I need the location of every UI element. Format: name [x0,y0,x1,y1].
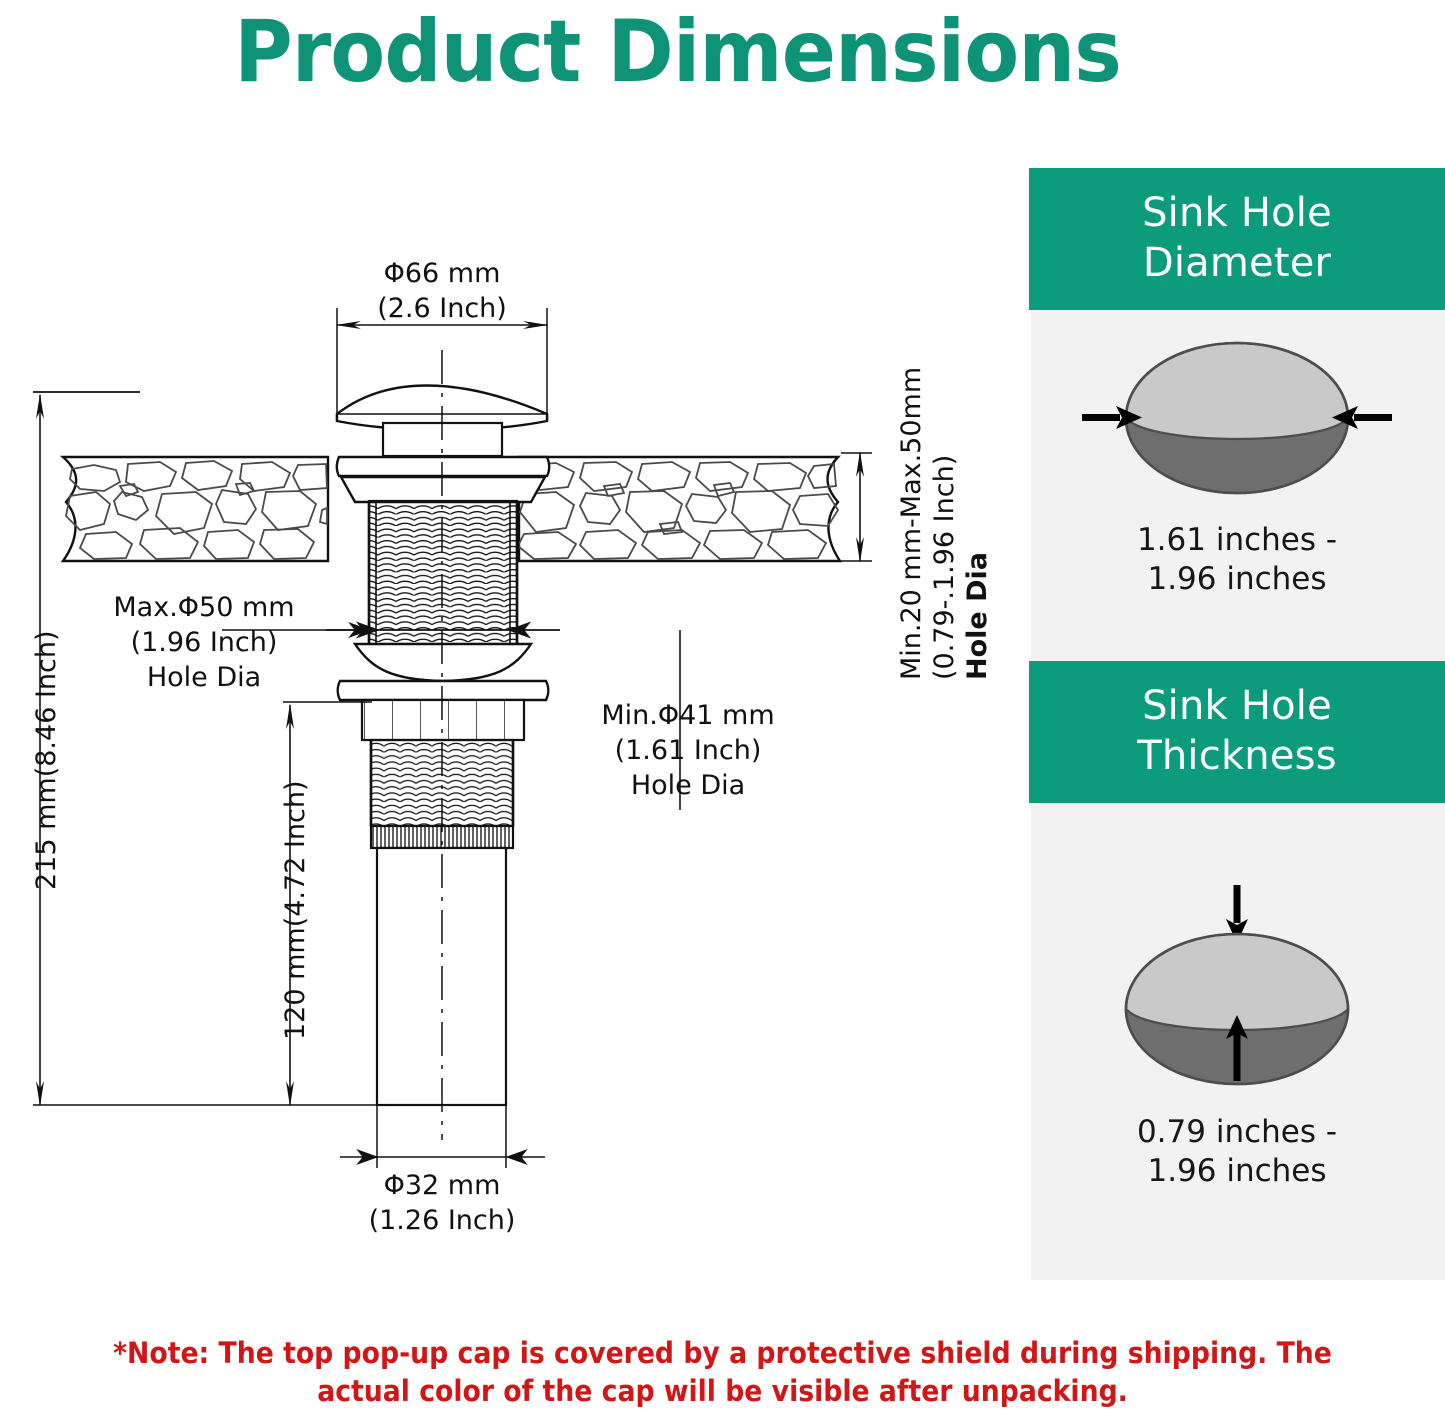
label-tail-diameter: Φ32 mm (1.26 Inch) [322,1168,562,1238]
dimension-counter-thickness [841,453,872,561]
label-counter-thickness-line2: (0.79-.1.96 Inch) [928,455,961,680]
card-body-sink-hole-thickness: 0.79 inches - 1.96 inches [1029,803,1445,1191]
countertop-slab-right [518,457,840,561]
card-spacer [1029,599,1445,661]
card-sink-hole-diameter: Sink Hole Diameter [1029,168,1445,599]
upper-threaded-barrel [369,501,517,644]
label-max-hole-dia: Max.Φ50 mm (1.96 Inch) Hole Dia [98,590,310,695]
label-counter-thickness-line3: Hole Dia [961,552,994,680]
info-panel: Sink Hole Diameter [1029,168,1445,1280]
card-sink-hole-thickness: Sink Hole Thickness [1029,661,1445,1191]
upper-flange [337,457,550,502]
collar-segments [362,700,524,740]
card-header-sink-hole-thickness: Sink Hole Thickness [1029,661,1445,803]
lower-flange [338,644,549,700]
card-caption-sink-hole-thickness: 0.79 inches - 1.96 inches [1029,1091,1445,1191]
shipping-note: *Note: The top pop-up cap is covered by … [58,1334,1387,1410]
label-min-hole-dia: Min.Φ41 mm (1.61 Inch) Hole Dia [583,698,793,803]
page-title: Product Dimensions [47,2,1307,102]
card-header-sink-hole-diameter: Sink Hole Diameter [1029,168,1445,310]
label-overall-height: 215 mm(8.46 Inch) [30,630,63,890]
vertical-arrows-ellipse-icon [1029,881,1445,1091]
label-cap-diameter: Φ66 mm (2.6 Inch) [302,256,582,326]
countertop-slab-left [63,457,328,561]
horizontal-arrows-ellipse-icon [1029,326,1445,511]
label-tail-length: 120 mm(4.72 Inch) [279,780,312,1040]
card-body-sink-hole-diameter: 1.61 inches - 1.96 inches [1029,310,1445,599]
card-caption-sink-hole-diameter: 1.61 inches - 1.96 inches [1029,511,1445,599]
product-dimension-drawing: Φ66 mm (2.6 Inch) 215 mm(8.46 Inch) Max.… [0,120,1010,1310]
label-counter-thickness-line1: Min.20 mm-Max.50mm [895,367,928,680]
